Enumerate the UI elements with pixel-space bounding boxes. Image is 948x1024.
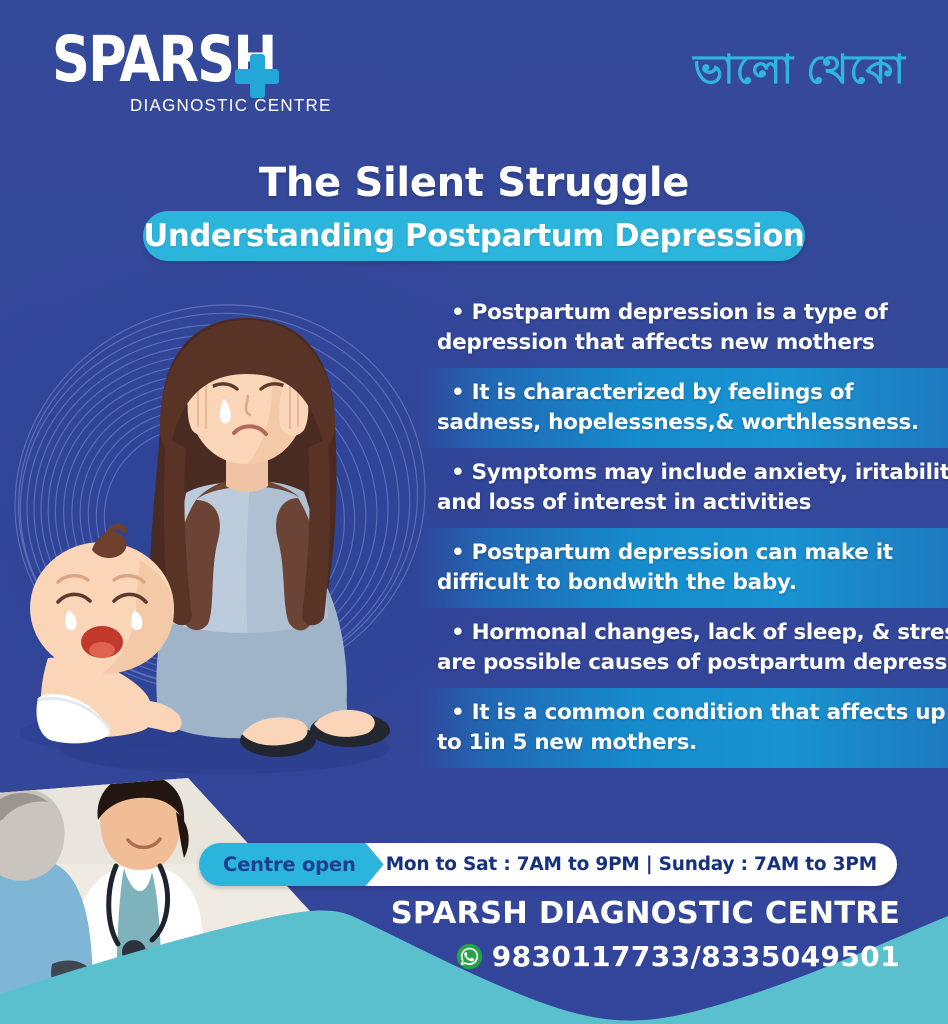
bullet-1-line-1: • Postpartum depression is a type of <box>437 298 934 328</box>
bullet-3-line-1: • Symptoms may include anxiety, iritabil… <box>437 458 934 488</box>
bullet-item-1: • Postpartum depression is a type of dep… <box>415 288 948 368</box>
bullet-5-line-1: • Hormonal changes, lack of sleep, & str… <box>437 618 934 648</box>
doctor-with-patient-photo <box>0 778 330 1024</box>
bullet-6-line-1: • It is a common condition that affects … <box>437 698 934 728</box>
bullet-1-line-2: depression that affects new mothers <box>437 328 934 358</box>
bullet-item-4: • Postpartum depression can make it diff… <box>415 528 948 608</box>
phone-numbers[interactable]: 9830117733/8335049501 <box>492 940 900 973</box>
bullet-5-line-2: are possible causes of postpartum depres… <box>437 648 934 678</box>
bullet-6-line-2: to 1in 5 new mothers. <box>437 728 934 758</box>
sparsh-logo: SPARSH DIAGNOSTIC CENTRE <box>52 28 338 116</box>
poster-title: The Silent Struggle <box>0 160 948 206</box>
poster-header: SPARSH DIAGNOSTIC CENTRE ভালো থেকো <box>0 0 948 140</box>
whatsapp-icon[interactable] <box>456 943 483 970</box>
logo-subtitle: DIAGNOSTIC CENTRE <box>130 95 332 116</box>
bengali-tagline: ভালো থেকো <box>693 38 906 105</box>
bullet-2-line-1: • It is characterized by feelings of <box>437 378 934 408</box>
poster-subtitle: Understanding Postpartum Depression <box>143 218 804 254</box>
bullet-item-3: • Symptoms may include anxiety, iritabil… <box>415 448 948 528</box>
centre-name-footer: SPARSH DIAGNOSTIC CENTRE <box>391 896 900 931</box>
bullet-4-line-1: • Postpartum depression can make it <box>437 538 934 568</box>
contact-phone-row[interactable]: 9830117733/8335049501 <box>456 940 900 973</box>
centre-open-badge: Centre open <box>199 843 384 886</box>
doctor-patient-photo-graphic <box>0 778 330 1024</box>
medical-cross-icon <box>235 54 279 98</box>
bullet-2-line-2: sadness, hopelessness,& worthlessness. <box>437 408 934 438</box>
bullet-item-5: • Hormonal changes, lack of sleep, & str… <box>415 608 948 688</box>
centre-hours-text: Mon to Sat : 7AM to 9PM | Sunday : 7AM t… <box>384 854 897 875</box>
postpartum-depression-awareness-poster: SPARSH DIAGNOSTIC CENTRE ভালো থেকো The S… <box>0 0 948 1024</box>
centre-hours-pill: Centre open Mon to Sat : 7AM to 9PM | Su… <box>199 843 897 886</box>
bullet-3-line-2: and loss of interest in activities <box>437 488 934 518</box>
crying-mother-and-baby-illustration <box>10 278 430 788</box>
poster-subtitle-pill: Understanding Postpartum Depression <box>143 211 805 261</box>
bullet-item-6: • It is a common condition that affects … <box>415 688 948 768</box>
bullet-4-line-2: difficult to bondwith the baby. <box>437 568 934 598</box>
bullet-list: • Postpartum depression is a type of dep… <box>415 288 948 768</box>
bullet-item-2: • It is characterized by feelings of sad… <box>415 368 948 448</box>
